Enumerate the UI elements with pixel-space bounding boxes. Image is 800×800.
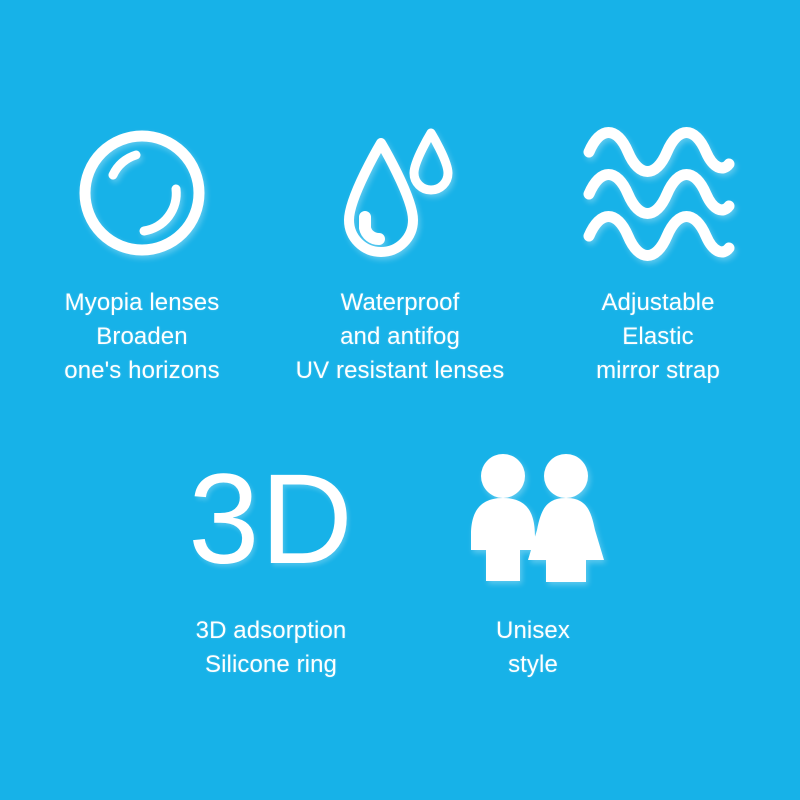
male-head: [481, 454, 525, 498]
feature-caption: Unisex style: [496, 614, 570, 682]
wavy-strap-icon-box: [581, 118, 736, 268]
wavy-strap-icon: [581, 128, 736, 258]
caption-line: Broaden: [64, 320, 219, 354]
caption-line: and antifog: [296, 320, 505, 354]
caption-line: Myopia lenses: [64, 286, 219, 320]
lens-circle-icon: [72, 123, 212, 263]
caption-line: mirror strap: [596, 354, 720, 388]
feature-row-bottom: 3D 3D adsorption Silicone ring: [0, 388, 800, 682]
caption-line: Waterproof: [296, 286, 505, 320]
caption-line: Silicone ring: [196, 648, 347, 682]
feature-myopia-lenses: Myopia lenses Broaden one's horizons: [18, 118, 266, 388]
female-head: [544, 454, 588, 498]
feature-caption: Myopia lenses Broaden one's horizons: [64, 286, 219, 388]
male-body: [471, 498, 535, 581]
3d-text-icon-box: 3D: [188, 440, 354, 600]
caption-line: 3D adsorption: [196, 614, 347, 648]
lens-circle-icon-box: [72, 118, 212, 268]
caption-line: Unisex: [496, 614, 570, 648]
caption-line: one's horizons: [64, 354, 219, 388]
feature-waterproof-antifog: Waterproof and antifog UV resistant lens…: [276, 118, 524, 388]
female-body: [528, 498, 604, 582]
unisex-people-icon-box: [458, 440, 608, 600]
unisex-people-icon: [458, 450, 608, 590]
water-drop-icon: [335, 121, 465, 266]
product-feature-infographic: Myopia lenses Broaden one's horizons Wat…: [0, 0, 800, 800]
feature-unisex-style: Unisex style: [402, 440, 664, 682]
caption-line: Elastic: [596, 320, 720, 354]
feature-3d-adsorption: 3D 3D adsorption Silicone ring: [140, 440, 402, 682]
feature-row-top: Myopia lenses Broaden one's horizons Wat…: [0, 0, 800, 388]
water-drop-icon-box: [335, 118, 465, 268]
caption-line: style: [496, 648, 570, 682]
feature-adjustable-strap: Adjustable Elastic mirror strap: [534, 118, 782, 388]
feature-caption: 3D adsorption Silicone ring: [196, 614, 347, 682]
feature-caption: Adjustable Elastic mirror strap: [596, 286, 720, 388]
caption-line: Adjustable: [596, 286, 720, 320]
3d-text-icon: 3D: [188, 456, 354, 584]
caption-line: UV resistant lenses: [296, 354, 505, 388]
feature-caption: Waterproof and antifog UV resistant lens…: [296, 286, 505, 388]
